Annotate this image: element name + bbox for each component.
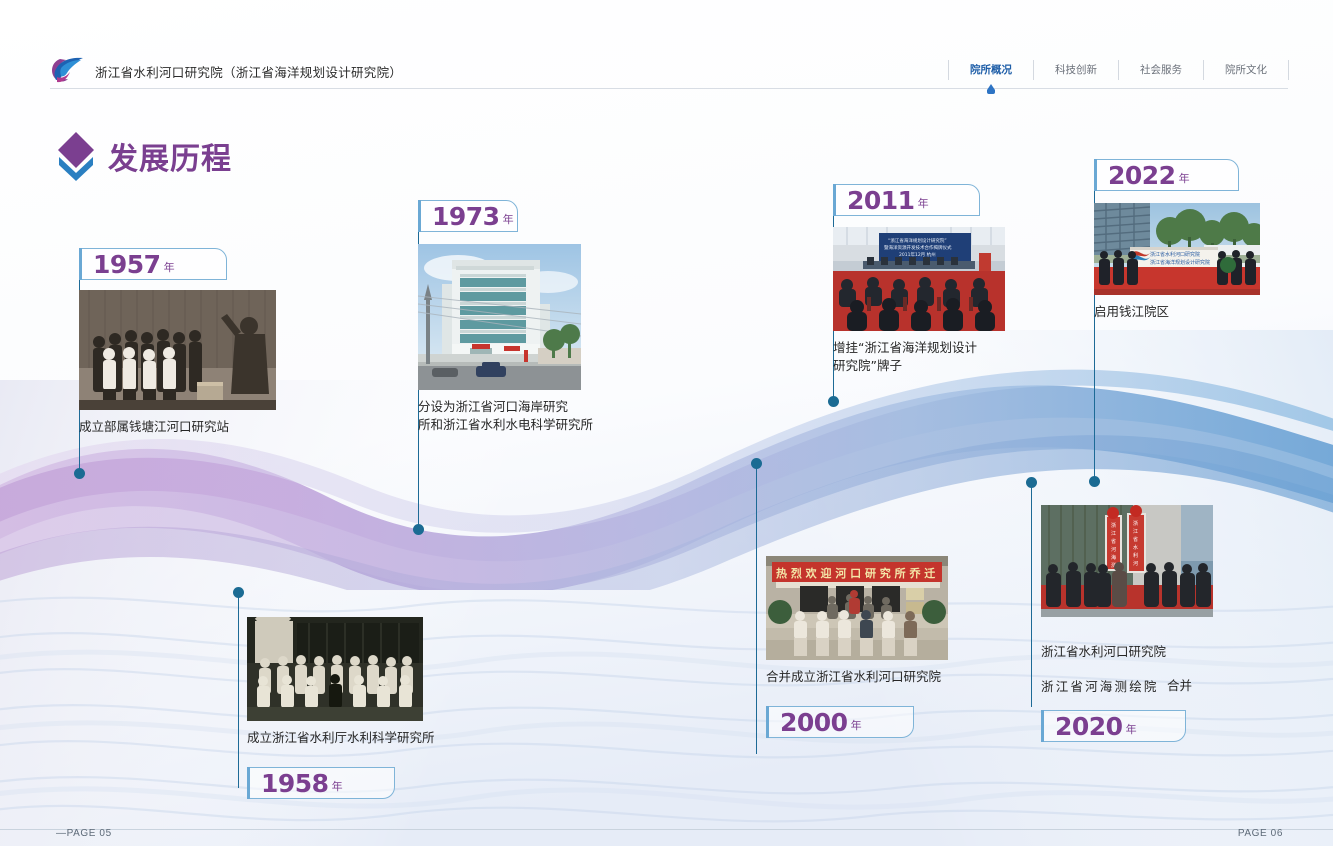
- year-number: 2022: [1108, 161, 1176, 190]
- photo-1958-staff-portrait[interactable]: [247, 617, 477, 721]
- photo-2011-conference-hall[interactable]: “浙江省海洋规划设计研究院” 暨海洋资源开发技术合作揭牌仪式 2011年12月 …: [833, 227, 1033, 331]
- svg-text:“浙江省海洋规划设计研究院”: “浙江省海洋规划设计研究院”: [888, 237, 947, 244]
- dot-2020: [1026, 477, 1037, 488]
- page-title: 发展历程: [108, 134, 232, 178]
- photo-2000-welcome-banner[interactable]: 热 烈 欢 迎 河 口 研 究 所 乔 迁: [766, 556, 986, 660]
- caption-1957: 成立部属钱塘江河口研究站: [79, 418, 294, 436]
- svg-text:浙江省水利河口研究院: 浙江省水利河口研究院: [1150, 251, 1200, 258]
- timeline-item-1958[interactable]: 成立浙江省水利厅水利科学研究所 1958 年: [247, 617, 477, 799]
- year-number: 1957: [93, 250, 161, 279]
- photo-1973-institute-building[interactable]: [418, 244, 638, 390]
- svg-text:2011年12月 杭州: 2011年12月 杭州: [899, 251, 936, 258]
- nav-item-label: 科技创新: [1055, 64, 1097, 76]
- dot-2000: [751, 458, 762, 469]
- caption-2011: 增挂“浙江省海洋规划设计 研究院”牌子: [833, 339, 1033, 375]
- year-suffix: 年: [851, 717, 862, 737]
- timeline-item-2020[interactable]: 浙江省 河海测 浙江省 水利河: [1041, 505, 1256, 742]
- photo-2022-qianjiang-campus[interactable]: 浙江省水利河口研究院 浙江省海洋规划设计研究院: [1094, 203, 1294, 295]
- svg-text:海: 海: [1111, 554, 1116, 561]
- caption-1973: 分设为浙江省河口海岸研究 所和浙江省水利水电科学研究所: [418, 398, 638, 434]
- nav-item-label: 院所概况: [970, 64, 1012, 76]
- stem-2020: [1031, 487, 1032, 707]
- dot-1958: [233, 587, 244, 598]
- caption-2020-line1: 浙江省水利河口研究院: [1041, 644, 1166, 659]
- dot-1973: [413, 524, 424, 535]
- caption-2020-merge: 合并: [1167, 677, 1192, 696]
- year-number: 2000: [780, 708, 848, 737]
- svg-text:浙: 浙: [1111, 522, 1116, 529]
- caption-2022: 启用钱江院区: [1094, 303, 1294, 321]
- year-chip-1973: 1973 年: [418, 200, 518, 232]
- org-name: 浙江省水利河口研究院（浙江省海洋规划设计研究院）: [95, 62, 402, 81]
- nav-item-label: 社会服务: [1140, 64, 1182, 76]
- timeline-item-2011[interactable]: 2011 年 “浙江省海洋规划设计研究院” 暨海洋资源开发技术合作揭牌仪式 20…: [833, 184, 1033, 375]
- wave-swoosh-logo-icon: [50, 55, 88, 87]
- svg-text:河: 河: [1133, 560, 1138, 567]
- brand[interactable]: 浙江省水利河口研究院（浙江省海洋规划设计研究院）: [50, 55, 402, 87]
- timeline-item-1973[interactable]: 1973 年: [418, 200, 638, 434]
- svg-text:江: 江: [1111, 530, 1116, 537]
- year-suffix: 年: [503, 211, 514, 231]
- dot-2022: [1089, 476, 1100, 487]
- dot-2011: [828, 396, 839, 407]
- nav-item-social-service[interactable]: 社会服务: [1118, 60, 1203, 80]
- diamond-chevron-icon: [55, 130, 97, 182]
- svg-text:省: 省: [1133, 536, 1138, 543]
- page-header: 浙江省水利河口研究院（浙江省海洋规划设计研究院） 院所概况 科技创新 社会服务 …: [0, 0, 1333, 96]
- caption-2000: 合并成立浙江省水利河口研究院: [766, 668, 986, 686]
- caption-2020: 浙江省水利河口研究院 浙江省河海测绘院 合并: [1041, 625, 1256, 696]
- timeline-item-2022[interactable]: 2022 年: [1094, 159, 1294, 321]
- year-chip-2020: 2020 年: [1041, 710, 1186, 742]
- year-suffix: 年: [918, 195, 929, 215]
- svg-text:河: 河: [1111, 546, 1116, 553]
- year-chip-1958: 1958 年: [247, 767, 395, 799]
- timeline-item-2000[interactable]: 热 烈 欢 迎 河 口 研 究 所 乔 迁: [766, 556, 986, 738]
- year-suffix: 年: [1179, 170, 1190, 190]
- year-suffix: 年: [332, 778, 343, 798]
- svg-text:暨海洋资源开发技术合作揭牌仪式: 暨海洋资源开发技术合作揭牌仪式: [884, 244, 952, 251]
- year-suffix: 年: [164, 259, 175, 279]
- caption-1958: 成立浙江省水利厅水利科学研究所: [247, 729, 477, 747]
- stem-1958: [238, 596, 239, 788]
- year-chip-2011: 2011 年: [833, 184, 980, 216]
- top-nav: 院所概况 科技创新 社会服务 院所文化: [948, 60, 1289, 80]
- year-chip-2022: 2022 年: [1094, 159, 1239, 191]
- photo-2020-plaque-unveiling[interactable]: 浙江省 河海测 浙江省 水利河: [1041, 505, 1256, 617]
- svg-text:水: 水: [1133, 544, 1138, 551]
- dot-1957: [74, 468, 85, 479]
- timeline-item-1957[interactable]: 1957 年: [79, 248, 294, 436]
- caption-2020-line2: 浙江省河海测绘院: [1041, 679, 1159, 694]
- year-suffix: 年: [1126, 721, 1137, 741]
- svg-text:省: 省: [1111, 538, 1116, 545]
- nav-item-institute-culture[interactable]: 院所文化: [1203, 60, 1289, 80]
- footer-divider: [0, 829, 1333, 830]
- year-number: 1973: [432, 202, 500, 231]
- year-number: 2020: [1055, 712, 1123, 741]
- nav-active-caret-icon: [987, 84, 995, 90]
- header-divider: [50, 88, 1288, 89]
- nav-item-tech-innovation[interactable]: 科技创新: [1033, 60, 1118, 80]
- svg-text:热 烈 欢 迎 河 口 研 究 所 乔 迁: 热 烈 欢 迎 河 口 研 究 所 乔 迁: [776, 566, 935, 580]
- svg-text:浙江省海洋规划设计研究院: 浙江省海洋规划设计研究院: [1150, 259, 1210, 266]
- year-number: 2011: [847, 186, 915, 215]
- photo-1957-group-meeting[interactable]: [79, 290, 294, 410]
- page-number-left: —PAGE 05: [56, 828, 112, 839]
- svg-text:江: 江: [1133, 528, 1138, 535]
- stem-2000: [756, 468, 757, 754]
- svg-text:利: 利: [1133, 552, 1138, 559]
- year-chip-2000: 2000 年: [766, 706, 914, 738]
- nav-item-institute-overview[interactable]: 院所概况: [948, 60, 1033, 80]
- page-number-right: PAGE 06: [1238, 828, 1283, 839]
- nav-item-label: 院所文化: [1225, 64, 1267, 76]
- year-chip-1957: 1957 年: [79, 248, 227, 280]
- year-number: 1958: [261, 769, 329, 798]
- section-title: 发展历程: [55, 130, 232, 182]
- svg-text:浙: 浙: [1133, 520, 1138, 527]
